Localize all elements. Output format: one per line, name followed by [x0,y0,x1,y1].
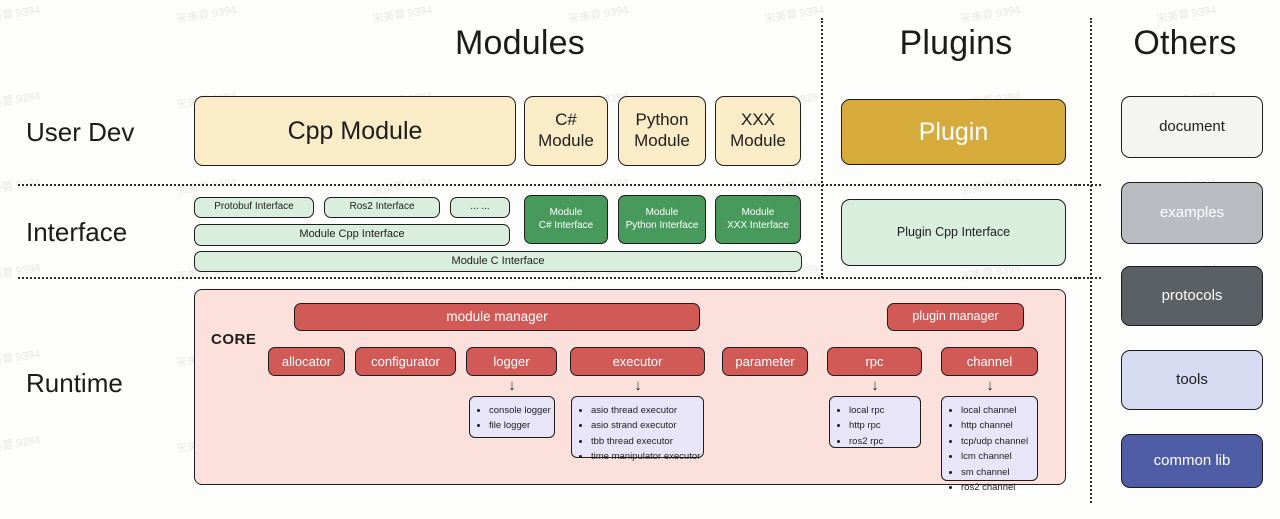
watermark-text: 宋美蓉 9394 [175,173,237,198]
box-xxx-module[interactable]: XXX Module [715,96,801,166]
list-item: time manipulator executor [591,449,695,464]
list-item: local rpc [849,403,912,418]
watermark-text: 宋美蓉 9394 [175,1,237,26]
list-item: tcp/udp channel [961,434,1029,449]
divider-others-document-examples [1075,184,1101,186]
divider-userdev-interface [18,184,1080,186]
list-rpc-implementations: local rpchttp rpcros2 rpc [829,396,921,448]
others-item-common-lib[interactable]: common lib [1121,434,1263,488]
arrow-rpc-down: ↓ [868,378,882,393]
watermark-text: 宋美蓉 9394 [567,1,629,26]
box-module-cpp-interface[interactable]: Module Cpp Interface [194,224,510,246]
watermark-text: 宋美蓉 9394 [959,1,1021,26]
box-python-module-line1: Python [636,110,689,131]
box-allocator[interactable]: allocator [268,347,345,376]
watermark-text: 宋美蓉 9394 [0,345,41,370]
list-item: file logger [489,418,546,433]
arrow-channel-down: ↓ [983,378,997,393]
row-label-runtime: Runtime [26,368,123,399]
box-channel[interactable]: channel [941,347,1038,376]
module-csharp-interface-line2: C# Interface [539,220,593,232]
box-module-python-interface[interactable]: Module Python Interface [618,195,706,244]
box-python-module-line2: Module [634,131,690,152]
others-item-protocols[interactable]: protocols [1121,266,1263,326]
module-python-interface-line1: Module [646,207,679,219]
list-item: ros2 channel [961,480,1029,495]
divider-others-examples-protocols [1075,277,1101,279]
list-item: asio thread executor [591,403,695,418]
list-item: lcm channel [961,449,1029,464]
watermark-text: 宋美蓉 9394 [0,431,41,456]
watermark-text: 宋美蓉 9394 [0,259,41,284]
row-label-user-dev: User Dev [26,117,134,148]
module-csharp-interface-line1: Module [550,207,583,219]
list-item: console logger [489,403,546,418]
box-module-manager[interactable]: module manager [294,303,700,331]
watermark-text: 宋美蓉 9394 [0,1,41,26]
box-xxx-module-line2: Module [730,131,786,152]
module-python-interface-line2: Python Interface [626,220,699,232]
module-xxx-interface-line2: XXX Interface [727,220,789,232]
arrow-executor-down: ↓ [631,378,645,393]
watermark-text: 宋美蓉 9394 [371,1,433,26]
arrow-logger-down: ↓ [505,378,519,393]
watermark-text: 宋美蓉 9394 [959,173,1021,198]
box-cpp-module[interactable]: Cpp Module [194,96,516,166]
box-plugin[interactable]: Plugin [841,99,1066,165]
list-channel-implementations: local channelhttp channeltcp/udp channel… [941,396,1038,481]
watermark-text: 宋美蓉 9394 [763,1,825,26]
others-item-examples[interactable]: examples [1121,182,1263,244]
box-ellipsis-interface[interactable]: ... ... [450,197,510,218]
divider-modules-plugins [821,18,823,278]
box-module-csharp-interface[interactable]: Module C# Interface [524,195,608,244]
box-rpc[interactable]: rpc [827,347,922,376]
list-item: tbb thread executor [591,434,695,449]
section-title-modules: Modules [330,24,710,63]
row-label-interface: Interface [26,217,127,248]
box-csharp-module-line2: Module [538,131,594,152]
section-title-plugins: Plugins [836,24,1076,63]
watermark-text: 宋美蓉 9394 [371,173,433,198]
box-logger[interactable]: logger [466,347,557,376]
architecture-diagram: 宋美蓉 9394宋美蓉 9394宋美蓉 9394宋美蓉 9394宋美蓉 9394… [0,0,1280,519]
executor-items: asio thread executorasio strand executor… [580,403,695,465]
list-item: local channel [961,403,1029,418]
section-title-others: Others [1100,24,1270,63]
box-plugin-cpp-interface[interactable]: Plugin Cpp Interface [841,199,1066,266]
box-csharp-module[interactable]: C# Module [524,96,608,166]
watermark-text: 宋美蓉 9394 [1155,1,1217,26]
box-executor[interactable]: executor [570,347,705,376]
list-logger-implementations: console loggerfile logger [469,396,555,438]
others-item-document[interactable]: document [1121,96,1263,158]
box-python-module[interactable]: Python Module [618,96,706,166]
list-item: sm channel [961,465,1029,480]
channel-items: local channelhttp channeltcp/udp channel… [950,403,1029,495]
logger-items: console loggerfile logger [478,403,546,434]
watermark-text: 宋美蓉 9394 [0,87,41,112]
list-item: http rpc [849,418,912,433]
box-ros2-interface[interactable]: Ros2 Interface [324,197,440,218]
watermark-text: 宋美蓉 9394 [0,173,41,198]
core-label: CORE [211,331,256,348]
list-item: http channel [961,418,1029,433]
divider-interface-runtime [18,277,1080,279]
list-item: ros2 rpc [849,434,912,449]
box-xxx-module-line1: XXX [741,110,775,131]
box-plugin-manager[interactable]: plugin manager [887,303,1024,331]
list-executor-implementations: asio thread executorasio strand executor… [571,396,704,458]
module-xxx-interface-line1: Module [742,207,775,219]
box-module-c-interface[interactable]: Module C Interface [194,251,802,272]
box-parameter[interactable]: parameter [722,347,808,376]
box-csharp-module-line1: C# [555,110,577,131]
rpc-items: local rpchttp rpcros2 rpc [838,403,912,449]
divider-plugins-others [1090,18,1092,503]
others-item-tools[interactable]: tools [1121,350,1263,410]
list-item: asio strand executor [591,418,695,433]
box-configurator[interactable]: configurator [355,347,456,376]
box-module-xxx-interface[interactable]: Module XXX Interface [715,195,801,244]
box-protobuf-interface[interactable]: Protobuf Interface [194,197,314,218]
